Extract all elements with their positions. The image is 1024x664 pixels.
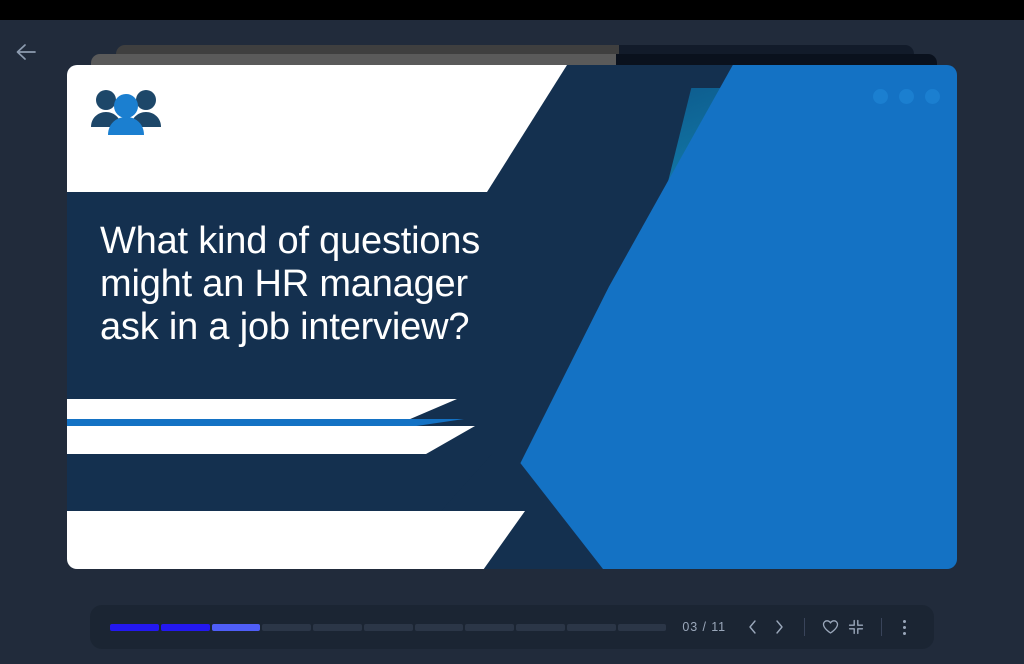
heart-icon (822, 619, 839, 635)
chevron-left-icon (746, 619, 760, 635)
fullscreen-toggle-button[interactable] (843, 614, 869, 640)
progress-segment[interactable] (313, 624, 362, 631)
page-indicator: 03 / 11 (682, 620, 726, 634)
current-slide[interactable]: What kind of questions might an HR manag… (67, 65, 957, 569)
like-button[interactable] (817, 614, 843, 640)
more-options-button[interactable] (894, 620, 914, 635)
slide-progress-bar[interactable] (110, 624, 666, 631)
people-group-icon (89, 87, 163, 135)
slide-decor-dots-icon (873, 89, 940, 104)
progress-segment[interactable] (465, 624, 514, 631)
arrow-left-icon (15, 43, 37, 61)
collapse-arrows-icon (848, 619, 864, 635)
progress-segment[interactable] (161, 624, 210, 631)
stripe-decoration (67, 389, 627, 569)
control-divider (881, 618, 882, 636)
playback-control-bar: 03 / 11 (90, 605, 934, 649)
people-group-logo (89, 87, 163, 135)
progress-segment[interactable] (618, 624, 667, 631)
next-slide-button[interactable] (766, 614, 792, 640)
progress-segment[interactable] (516, 624, 565, 631)
progress-segment[interactable] (364, 624, 413, 631)
slide-viewer: What kind of questions might an HR manag… (0, 0, 1024, 664)
previous-slide-button[interactable] (740, 614, 766, 640)
back-button[interactable] (10, 37, 42, 67)
slide-headline: What kind of questions might an HR manag… (100, 220, 570, 349)
progress-segment[interactable] (415, 624, 464, 631)
top-black-strip (0, 0, 1024, 20)
control-divider (804, 618, 805, 636)
progress-segment[interactable] (567, 624, 616, 631)
progress-segment-current[interactable] (212, 624, 261, 631)
progress-segment[interactable] (262, 624, 311, 631)
progress-segment[interactable] (110, 624, 159, 631)
chevron-right-icon (772, 619, 786, 635)
